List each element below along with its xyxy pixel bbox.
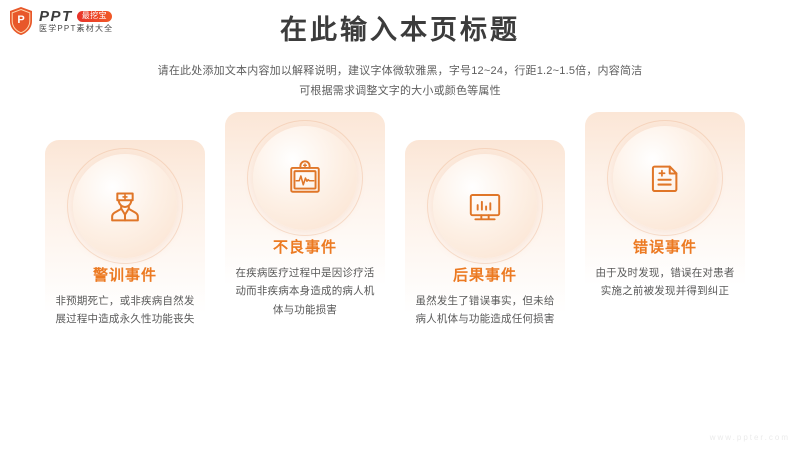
clipboard-ecg-icon bbox=[279, 152, 331, 204]
monitor-chart-icon bbox=[459, 180, 511, 232]
card-title: 不良事件 bbox=[225, 240, 385, 255]
card-error-event[interactable]: 错误事件 由于及时发现，错误在对患者实施之前被发现并得到纠正 bbox=[585, 112, 745, 392]
card-adverse-event[interactable]: 不良事件 在疾病医疗过程中是因诊疗活动而非疾病本身造成的病人机体与功能损害 bbox=[225, 112, 385, 392]
card-title: 后果事件 bbox=[405, 268, 565, 283]
card-consequence-event[interactable]: 后果事件 虽然发生了错误事实，但未给病人机体与功能造成任何损害 bbox=[405, 140, 565, 420]
document-plus-icon bbox=[639, 152, 691, 204]
card-title: 警训事件 bbox=[45, 268, 205, 283]
card-description: 虽然发生了错误事实，但未给病人机体与功能造成任何损害 bbox=[415, 292, 555, 329]
watermark: www.ppter.com bbox=[710, 433, 790, 442]
card-description: 非预期死亡，或非疾病自然发展过程中造成永久性功能丧失 bbox=[55, 292, 195, 329]
card-description: 由于及时发现，错误在对患者实施之前被发现并得到纠正 bbox=[595, 264, 735, 301]
card-description: 在疾病医疗过程中是因诊疗活动而非疾病本身造成的病人机体与功能损害 bbox=[235, 264, 375, 319]
slide-canvas: P PPT 最挖宝 医学PPT素材大全 在此输入本页标题 请在此处添加文本内容加… bbox=[0, 0, 800, 450]
card-warning-event[interactable]: 警训事件 非预期死亡，或非疾病自然发展过程中造成永久性功能丧失 bbox=[45, 140, 205, 420]
cards-row: 警训事件 非预期死亡，或非疾病自然发展过程中造成永久性功能丧失 bbox=[0, 0, 800, 450]
doctor-icon bbox=[99, 180, 151, 232]
card-title: 错误事件 bbox=[585, 240, 745, 255]
